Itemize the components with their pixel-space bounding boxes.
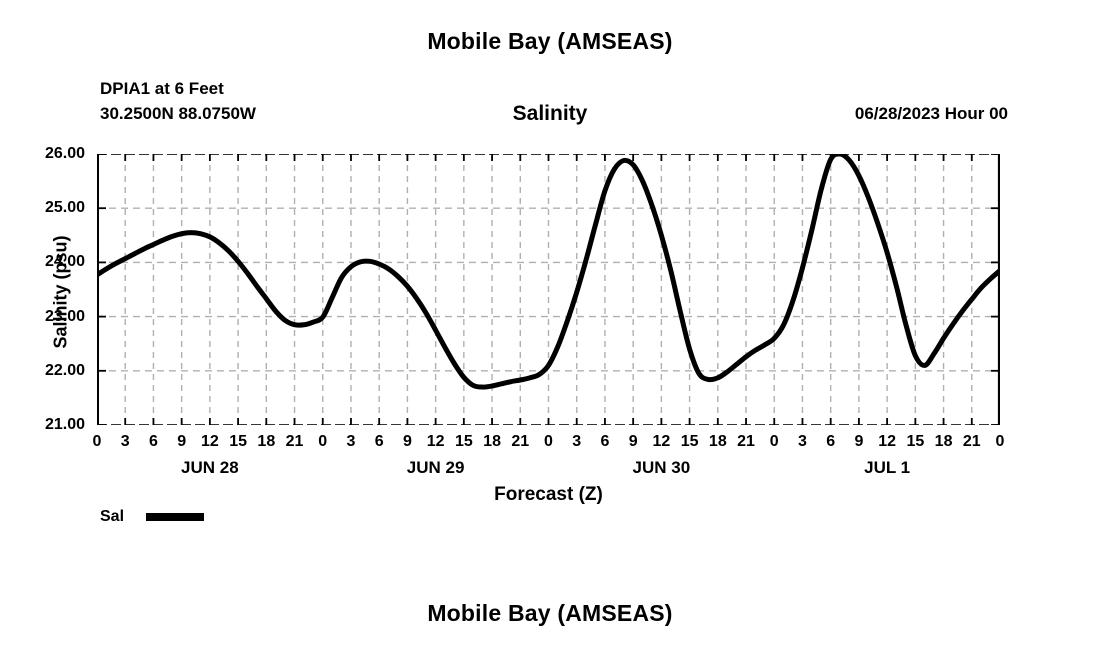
- x-tick-label: 12: [201, 433, 219, 451]
- x-tick-label: 18: [257, 433, 275, 451]
- x-tick-label: 21: [286, 433, 304, 451]
- x-tick-label: 12: [427, 433, 445, 451]
- y-tick-label: 23.00: [45, 308, 85, 326]
- x-tick-label: 15: [906, 433, 924, 451]
- y-tick-label: 26.00: [45, 145, 85, 163]
- station-label: DPIA1 at 6 Feet: [100, 76, 256, 101]
- x-tick-label: 18: [709, 433, 727, 451]
- x-tick-label: 6: [826, 433, 835, 451]
- x-tick-label: 0: [318, 433, 327, 451]
- x-tick-label: 21: [963, 433, 981, 451]
- x-tick-label: 21: [511, 433, 529, 451]
- x-axis-title: Forecast (Z): [97, 484, 1000, 506]
- x-tick-label: 21: [737, 433, 755, 451]
- salinity-forecast-figure: Mobile Bay (AMSEAS) DPIA1 at 6 Feet 30.2…: [0, 0, 1100, 650]
- y-tick-label: 25.00: [45, 199, 85, 217]
- legend: Sal: [100, 508, 204, 526]
- x-tick-label: 9: [629, 433, 638, 451]
- x-tick-label: 6: [149, 433, 158, 451]
- legend-swatch-sal: [146, 513, 204, 521]
- x-tick-label: 0: [996, 433, 1005, 451]
- x-axis-day-label: JUN 28: [181, 458, 239, 478]
- x-axis-day-label: JUL 1: [864, 458, 910, 478]
- x-tick-label: 15: [455, 433, 473, 451]
- x-tick-label: 9: [854, 433, 863, 451]
- x-tick-label: 3: [121, 433, 130, 451]
- x-tick-label: 0: [544, 433, 553, 451]
- legend-label-sal: Sal: [100, 508, 124, 526]
- x-tick-label: 12: [652, 433, 670, 451]
- x-axis-day-label: JUN 29: [407, 458, 465, 478]
- footer-title: Mobile Bay (AMSEAS): [0, 600, 1100, 627]
- x-tick-label: 0: [93, 433, 102, 451]
- x-tick-label: 0: [770, 433, 779, 451]
- y-tick-label: 21.00: [45, 416, 85, 434]
- y-tick-label: 24.00: [45, 253, 85, 271]
- x-tick-label: 3: [572, 433, 581, 451]
- x-tick-label: 6: [375, 433, 384, 451]
- x-tick-label: 18: [935, 433, 953, 451]
- page-title: Mobile Bay (AMSEAS): [0, 28, 1100, 55]
- x-tick-label: 15: [229, 433, 247, 451]
- x-axis-day-label: JUN 30: [633, 458, 691, 478]
- salinity-line-chart: [97, 154, 1000, 425]
- y-tick-label: 22.00: [45, 362, 85, 380]
- x-tick-label: 6: [600, 433, 609, 451]
- x-tick-label: 3: [798, 433, 807, 451]
- x-tick-label: 3: [347, 433, 356, 451]
- x-tick-label: 15: [681, 433, 699, 451]
- x-tick-label: 9: [403, 433, 412, 451]
- run-time-label: 06/28/2023 Hour 00: [855, 104, 1008, 124]
- x-tick-label: 12: [878, 433, 896, 451]
- plot-area: Salinity (psu) 26.0025.0024.0023.0022.00…: [97, 154, 1000, 425]
- x-tick-label: 18: [483, 433, 501, 451]
- x-tick-label: 9: [177, 433, 186, 451]
